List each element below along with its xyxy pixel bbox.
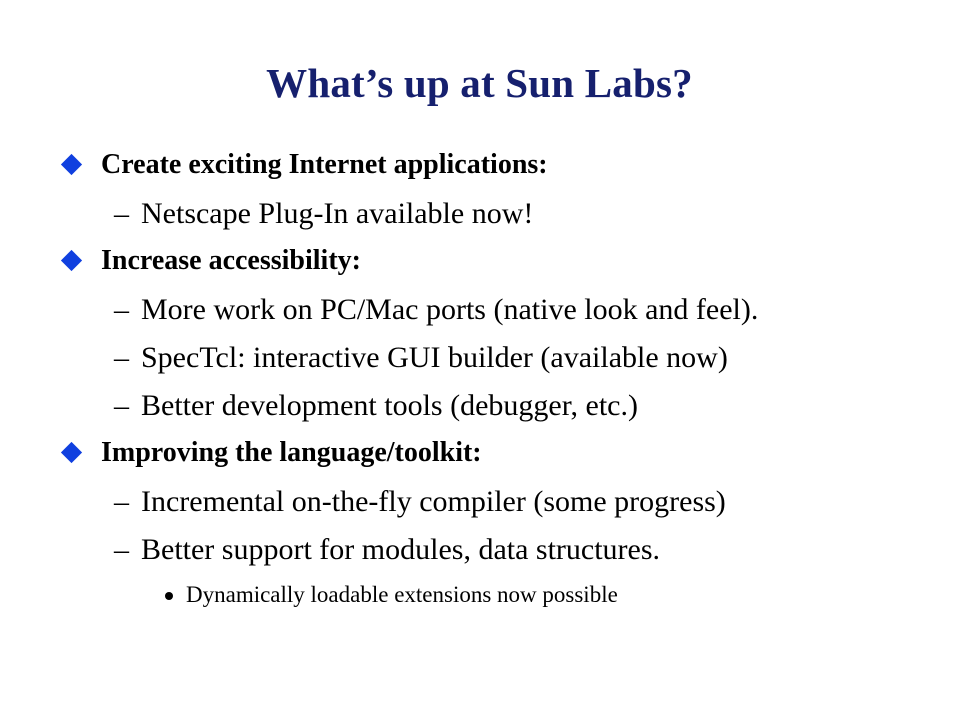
diamond-bullet-icon [61, 154, 82, 175]
dash-bullet-icon: – [114, 340, 129, 376]
dot-bullet-icon [165, 592, 173, 600]
presentation-slide: What’s up at Sun Labs? Create exciting I… [0, 0, 959, 719]
bullet-item-level-1: Increase accessibility: [0, 244, 959, 292]
bullet-item-level-2: –Better support for modules, data struct… [0, 532, 959, 580]
diamond-bullet-icon [61, 442, 82, 463]
bullet-text: SpecTcl: interactive GUI builder (availa… [141, 340, 728, 376]
bullet-text: Netscape Plug-In available now! [141, 196, 533, 232]
bullet-item-level-2: –SpecTcl: interactive GUI builder (avail… [0, 340, 959, 388]
bullet-item-level-2: –Incremental on-the-fly compiler (some p… [0, 484, 959, 532]
bullet-text: Better development tools (debugger, etc.… [141, 388, 638, 424]
slide-body-list: Create exciting Internet applications:–N… [0, 148, 959, 622]
bullet-text: Increase accessibility: [101, 244, 361, 278]
diamond-bullet-icon [61, 250, 82, 271]
bullet-text: Improving the language/toolkit: [101, 436, 482, 470]
bullet-item-level-1: Improving the language/toolkit: [0, 436, 959, 484]
bullet-item-level-1: Create exciting Internet applications: [0, 148, 959, 196]
bullet-item-level-2: –Better development tools (debugger, etc… [0, 388, 959, 436]
dash-bullet-icon: – [114, 196, 129, 232]
slide-title: What’s up at Sun Labs? [0, 60, 959, 106]
bullet-item-level-2: –Netscape Plug-In available now! [0, 196, 959, 244]
bullet-text: Incremental on-the-fly compiler (some pr… [141, 484, 726, 520]
bullet-item-level-2: –More work on PC/Mac ports (native look … [0, 292, 959, 340]
bullet-text: Better support for modules, data structu… [141, 532, 660, 568]
dash-bullet-icon: – [114, 388, 129, 424]
bullet-text: Create exciting Internet applications: [101, 148, 548, 182]
dash-bullet-icon: – [114, 532, 129, 568]
bullet-text: More work on PC/Mac ports (native look a… [141, 292, 758, 328]
dash-bullet-icon: – [114, 484, 129, 520]
bullet-item-level-3: Dynamically loadable extensions now poss… [0, 580, 959, 622]
dash-bullet-icon: – [114, 292, 129, 328]
bullet-text: Dynamically loadable extensions now poss… [186, 580, 618, 609]
